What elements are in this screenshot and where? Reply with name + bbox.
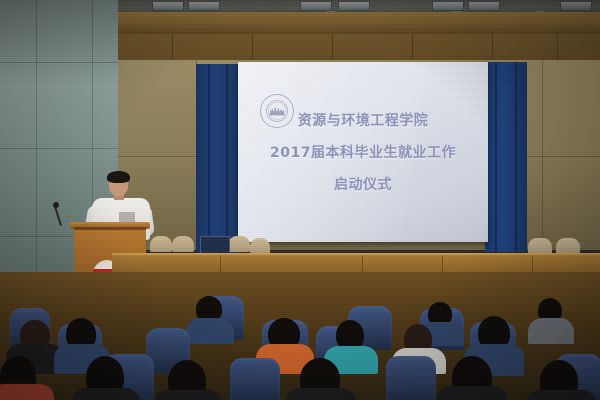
ceiling-light	[188, 1, 220, 11]
presentation-slide: 资源与环境工程学院 2017届本科毕业生就业工作 启动仪式	[238, 62, 488, 242]
wood-valance	[112, 12, 600, 36]
ceiling-light	[300, 1, 332, 11]
auditorium-photo: 资源与环境工程学院 2017届本科毕业生就业工作 启动仪式	[0, 0, 600, 400]
stage-chair	[172, 236, 194, 252]
stage-chair	[150, 236, 172, 252]
ceiling-light	[560, 1, 592, 11]
slide-line-3: 启动仪式	[238, 174, 488, 194]
stage-chair	[528, 238, 552, 254]
stage-curtain-left	[196, 64, 240, 254]
audience-shoulders	[436, 386, 508, 400]
audience-shoulders	[528, 318, 574, 344]
audience-seat	[230, 358, 280, 400]
presenter-laptop	[200, 236, 230, 254]
speaker-hair	[107, 171, 130, 183]
projection-screen: 资源与环境工程学院 2017届本科毕业生就业工作 启动仪式	[238, 62, 488, 242]
audience-seat	[386, 356, 436, 400]
ceiling-light	[432, 1, 464, 11]
slide-text-block: 资源与环境工程学院 2017届本科毕业生就业工作 启动仪式	[238, 110, 488, 194]
stage-chair	[556, 238, 580, 254]
audience-shoulders	[286, 388, 356, 400]
audience-shoulders	[0, 384, 54, 400]
audience-shoulders	[154, 390, 222, 400]
stage-chair	[228, 236, 250, 252]
ceiling-light	[338, 1, 370, 11]
ceiling-light	[152, 1, 184, 11]
audience-area	[0, 272, 600, 400]
microphone-head-icon	[53, 202, 59, 208]
audience-shoulders	[186, 318, 234, 344]
stage-chair	[250, 238, 270, 254]
slide-line-1: 资源与环境工程学院	[238, 110, 488, 130]
audience-shoulders	[72, 388, 140, 400]
slide-line-2: 2017届本科毕业生就业工作	[238, 142, 488, 162]
ceiling-light	[468, 1, 500, 11]
audience-shoulders	[526, 390, 596, 400]
stage-curtain-right	[485, 62, 527, 252]
